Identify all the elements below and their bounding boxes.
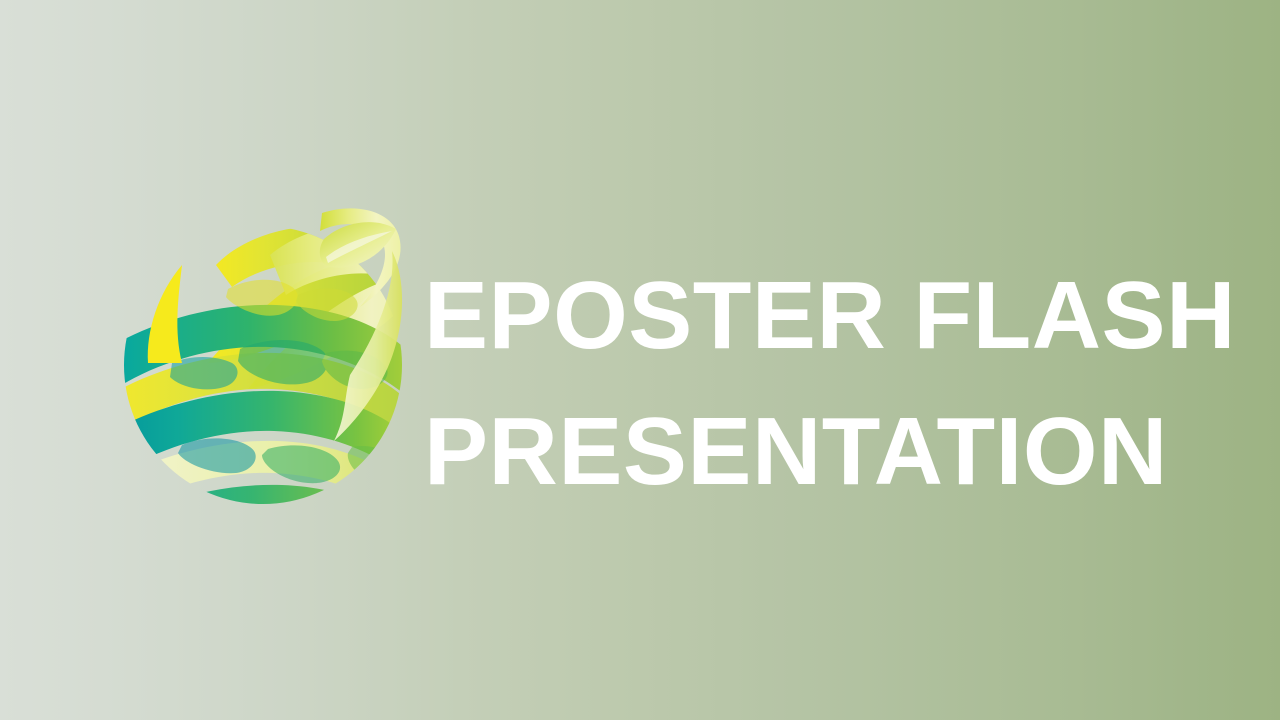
slide-title: EPOSTER FLASH PRESENTATION bbox=[424, 248, 1224, 520]
globe-ribbon-leaf-logo bbox=[120, 203, 410, 523]
globe-flame-left bbox=[148, 265, 182, 363]
title-line-1: EPOSTER FLASH bbox=[424, 248, 1224, 384]
title-line-2: PRESENTATION bbox=[424, 384, 1224, 520]
title-slide: EPOSTER FLASH PRESENTATION bbox=[0, 0, 1280, 720]
